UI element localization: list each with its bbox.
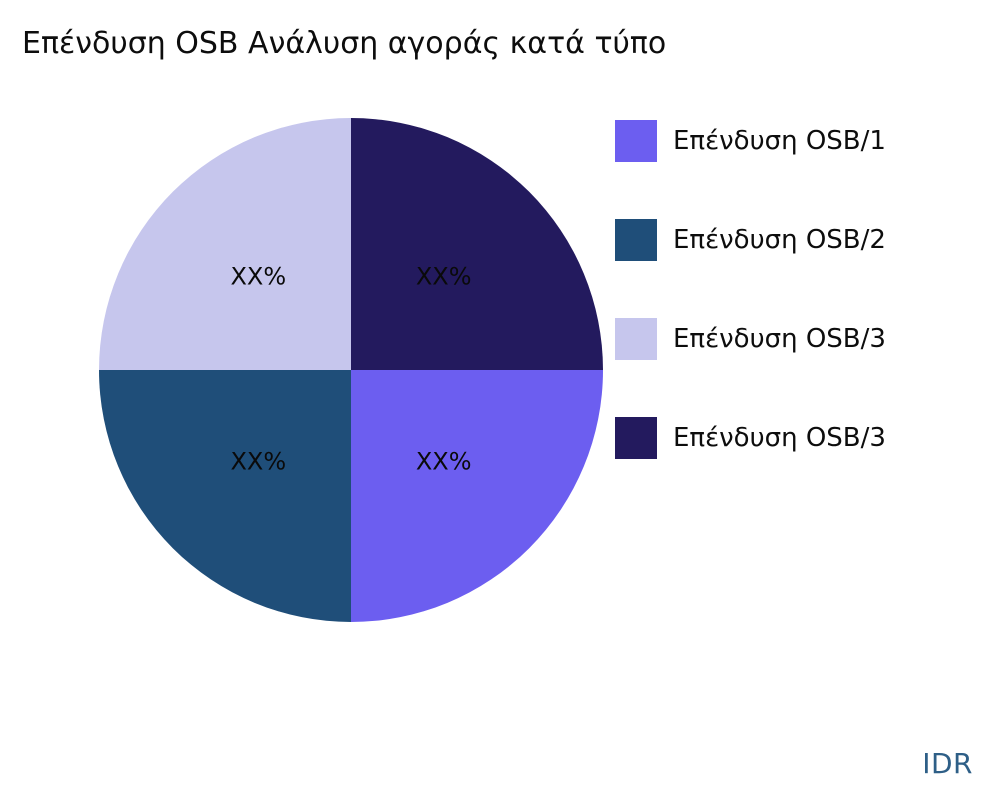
- pie-slice[interactable]: [351, 118, 603, 370]
- pie-slice-label: XX%: [416, 448, 472, 476]
- pie-chart-plot-area: XX%XX%XX%XX%: [99, 118, 603, 622]
- pie-slice[interactable]: [99, 118, 351, 370]
- pie-slice-label: XX%: [230, 262, 286, 290]
- pie-slice-group: [99, 118, 603, 622]
- chart-legend: Επένδυση OSB/1Επένδυση OSB/2Επένδυση OSB…: [615, 120, 975, 516]
- legend-color-swatch: [615, 318, 657, 360]
- pie-slice-label: XX%: [230, 448, 286, 476]
- legend-item[interactable]: Επένδυση OSB/1: [615, 120, 975, 219]
- legend-color-swatch: [615, 120, 657, 162]
- pie-chart-figure: Επένδυση OSB Ανάλυση αγοράς κατά τύπο XX…: [0, 0, 1000, 800]
- watermark-idr: IDR: [922, 747, 973, 780]
- chart-title: Επένδυση OSB Ανάλυση αγοράς κατά τύπο: [22, 25, 882, 63]
- legend-color-swatch: [615, 417, 657, 459]
- legend-item[interactable]: Επένδυση OSB/2: [615, 219, 975, 318]
- legend-item-label: Επένδυση OSB/3: [673, 318, 886, 360]
- legend-item-label: Επένδυση OSB/3: [673, 417, 886, 459]
- legend-item[interactable]: Επένδυση OSB/3: [615, 417, 975, 516]
- pie-slice[interactable]: [351, 370, 603, 622]
- pie-slice-label: XX%: [416, 262, 472, 290]
- legend-item-label: Επένδυση OSB/2: [673, 219, 886, 261]
- pie-svg: XX%XX%XX%XX%: [99, 118, 603, 622]
- pie-slice[interactable]: [99, 370, 351, 622]
- legend-color-swatch: [615, 219, 657, 261]
- legend-item[interactable]: Επένδυση OSB/3: [615, 318, 975, 417]
- legend-item-label: Επένδυση OSB/1: [673, 120, 886, 162]
